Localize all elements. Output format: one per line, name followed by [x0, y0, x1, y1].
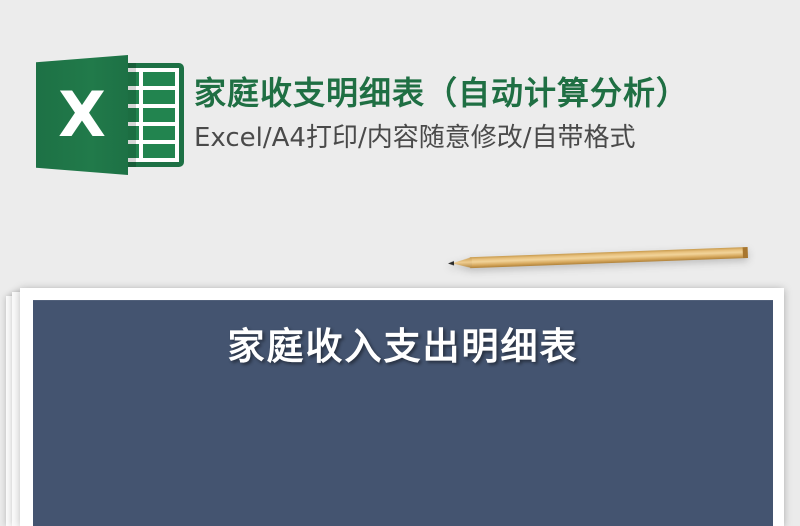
grid-cell: [143, 126, 175, 140]
pencil-end: [743, 247, 748, 258]
pencil-cone: [452, 257, 472, 269]
slide-preview: 家庭收入支出明细表 家庭收入支出表 制表人: 日期: 收 入 金额（元） 占 比…: [33, 300, 773, 526]
pencil-tip: [448, 261, 454, 266]
slide-title: 家庭收入支出明细表: [33, 316, 773, 370]
excel-x-letter: X: [36, 55, 128, 175]
banner-content: X 家庭收支明细表（自动计算分析） Excel/A4打印/内容随意修改/自带格式: [36, 55, 689, 175]
grid-cell: [143, 90, 175, 104]
banner-text-block: 家庭收支明细表（自动计算分析） Excel/A4打印/内容随意修改/自带格式: [194, 73, 689, 156]
banner-subtitle: Excel/A4打印/内容随意修改/自带格式: [194, 121, 689, 156]
grid-cell: [143, 72, 175, 86]
banner-title: 家庭收支明细表（自动计算分析）: [194, 73, 689, 113]
promo-banner: X 家庭收支明细表（自动计算分析） Excel/A4打印/内容随意修改/自带格式: [0, 0, 800, 290]
grid-cell: [143, 108, 175, 122]
grid-cell: [143, 144, 175, 158]
excel-file-icon: X: [36, 55, 186, 175]
